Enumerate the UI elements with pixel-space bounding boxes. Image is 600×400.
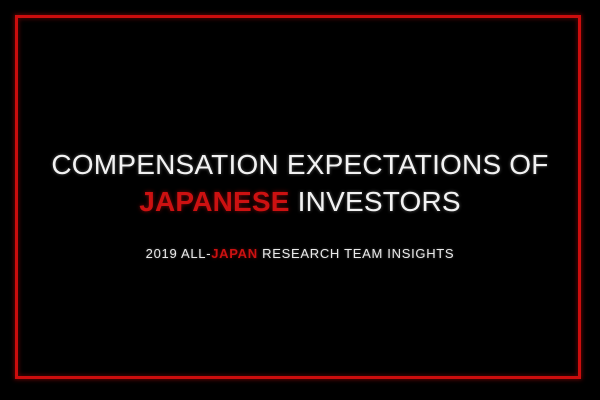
subtitle-suffix: RESEARCH TEAM INSIGHTS — [258, 246, 454, 261]
slide-content: COMPENSATION EXPECTATIONS OF JAPANESE IN… — [0, 0, 600, 400]
slide-title-accent-japanese: JAPANESE — [139, 186, 289, 217]
subtitle-prefix: 2019 ALL- — [146, 246, 212, 261]
subtitle-accent-japan: JAPAN — [211, 246, 258, 261]
slide-subtitle: 2019 ALL-JAPAN RESEARCH TEAM INSIGHTS — [146, 245, 455, 262]
title-slide: COMPENSATION EXPECTATIONS OF JAPANESE IN… — [0, 0, 600, 400]
slide-title-line-1: COMPENSATION EXPECTATIONS OF — [51, 146, 548, 183]
slide-title-line-2-rest: INVESTORS — [290, 186, 461, 217]
slide-title-line-2: JAPANESE INVESTORS — [139, 183, 461, 220]
